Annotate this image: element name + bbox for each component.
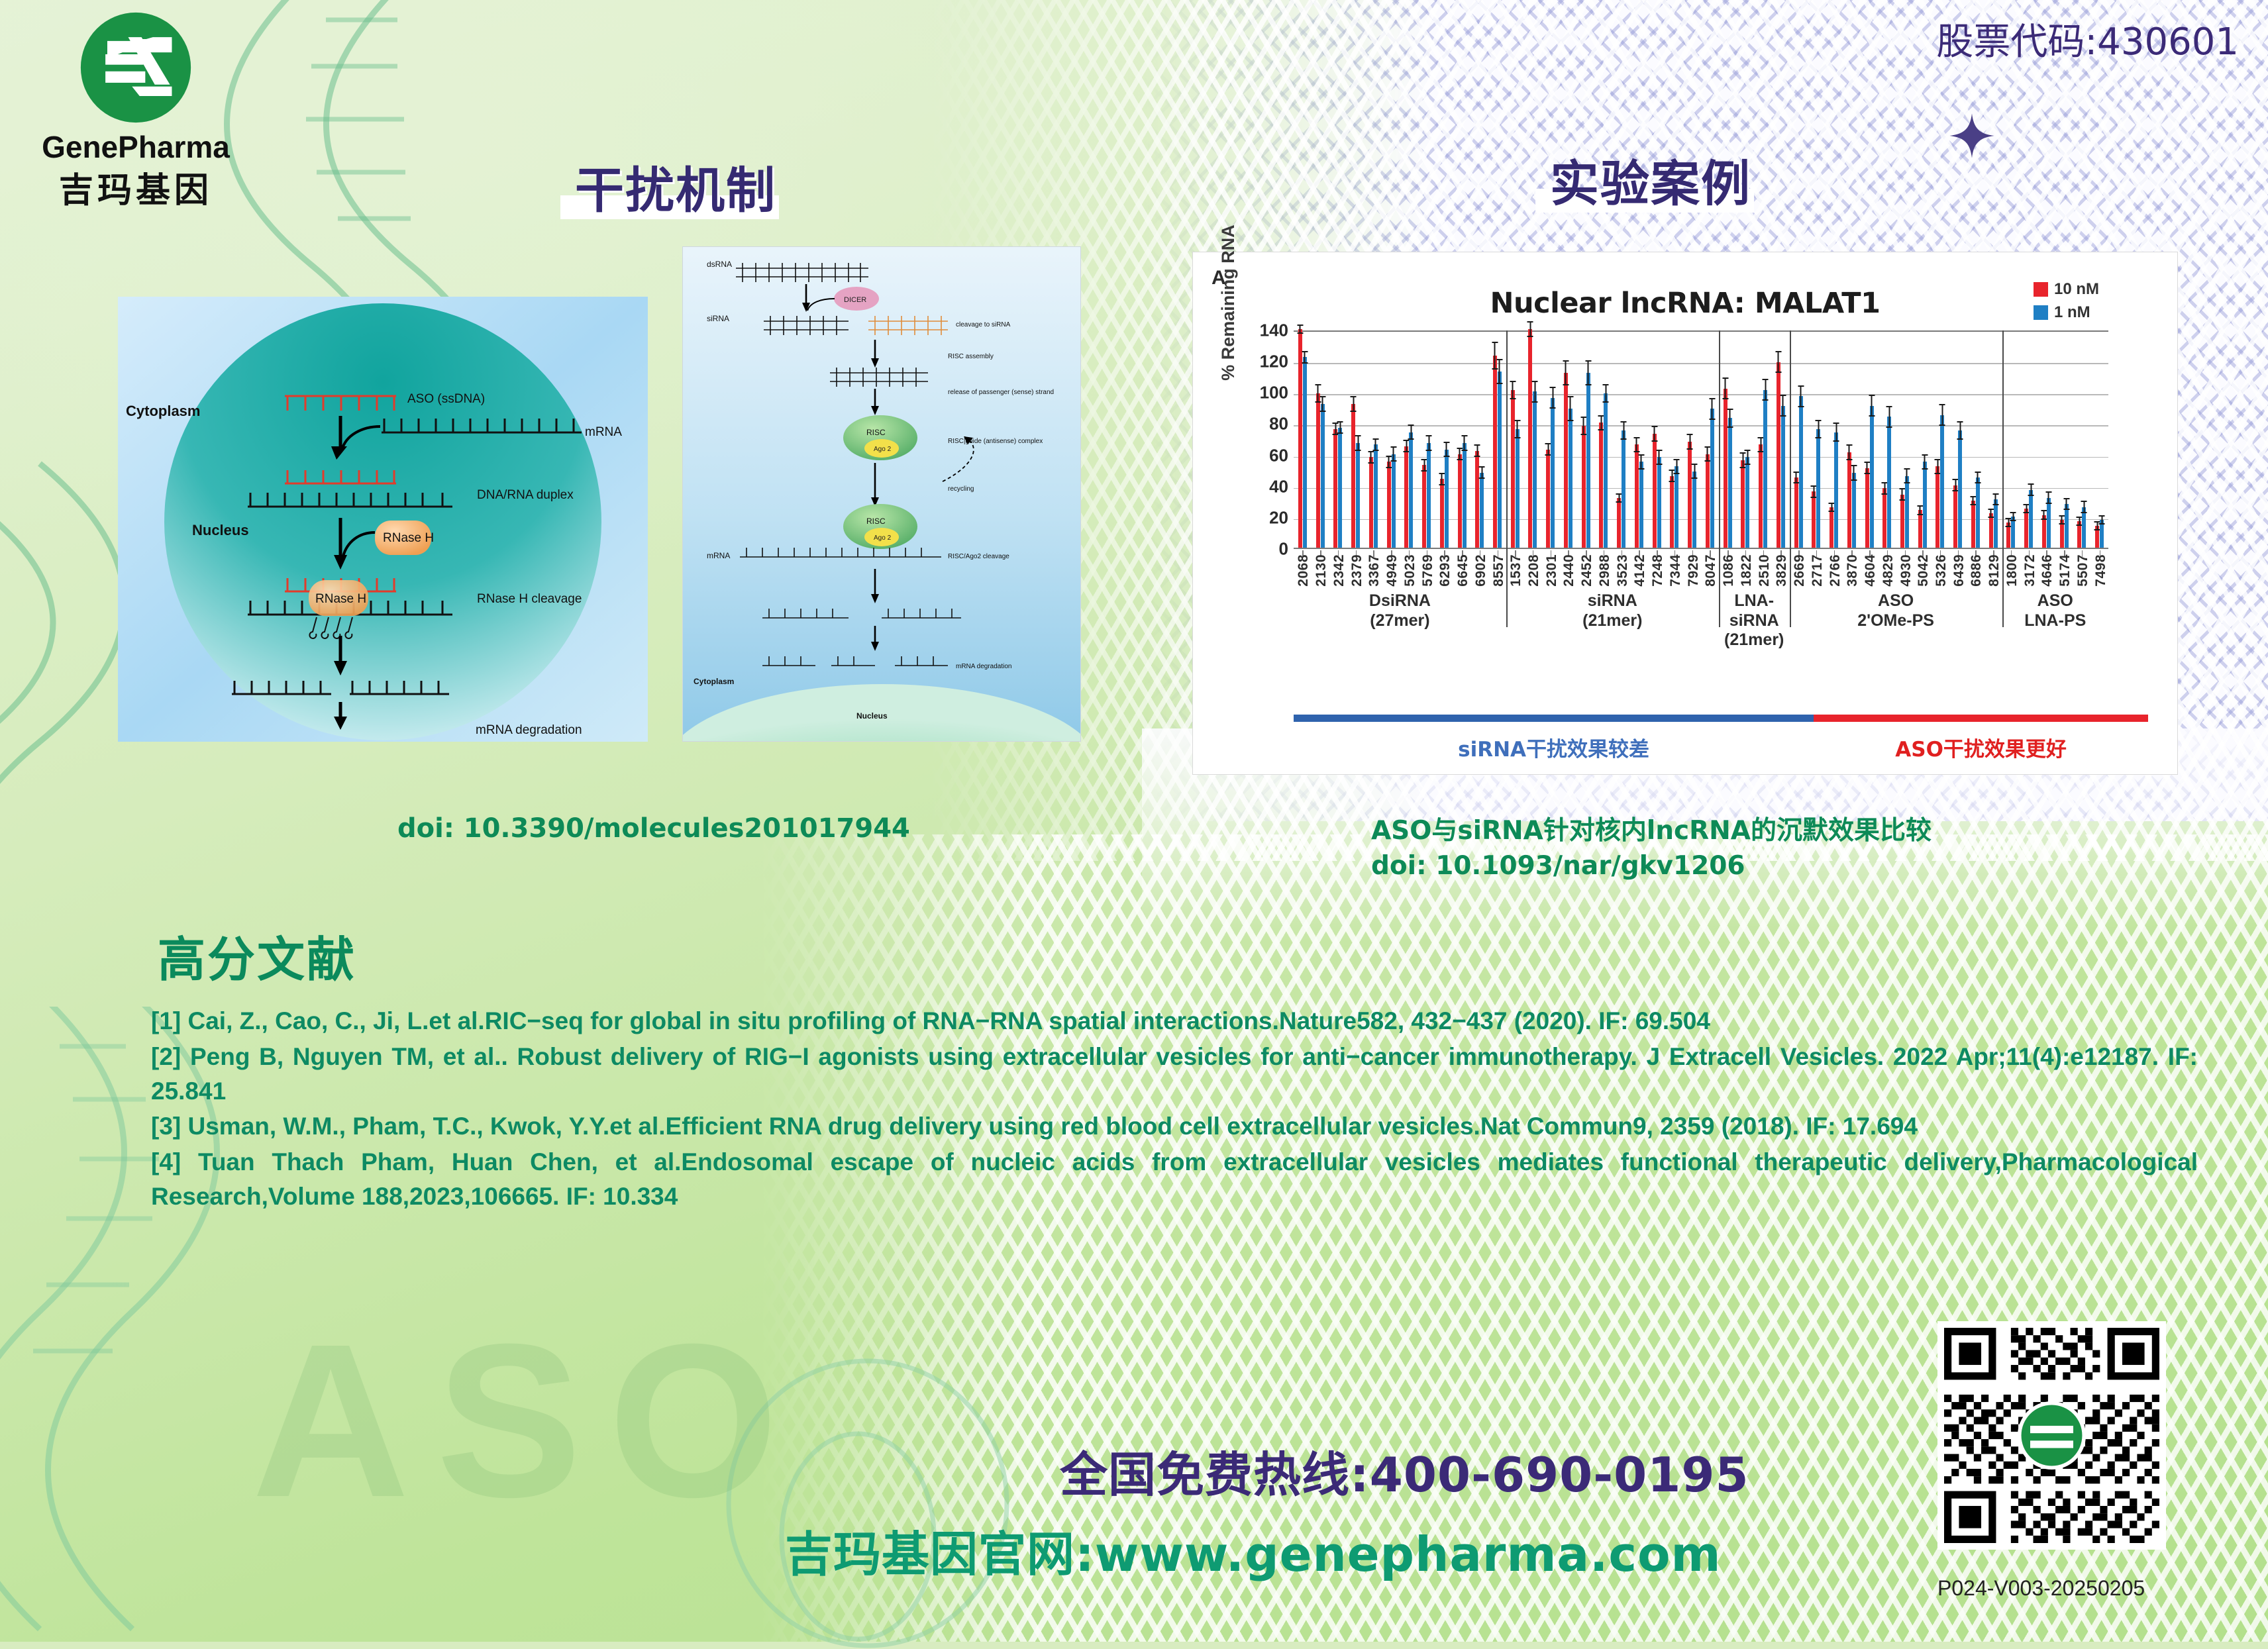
chart-bar: [2006, 523, 2010, 548]
chart-bar: [1918, 510, 1922, 548]
x-axis-label: 2342: [1331, 554, 1347, 587]
x-axis-label: 5326: [1933, 554, 1949, 587]
x-axis-label: 1800: [2004, 554, 2020, 587]
chart-bar: [1830, 507, 1833, 548]
error-bar: [1337, 421, 1343, 434]
chart-bar: [2082, 507, 2086, 548]
error-bar: [2010, 512, 2016, 521]
bar-group: [1470, 451, 1488, 548]
error-bar: [1514, 420, 1520, 438]
x-axis-label: 2208: [1526, 554, 1542, 587]
error-bar: [1585, 360, 1591, 385]
error-bar: [1687, 434, 1693, 450]
error-bar: [1390, 446, 1396, 462]
legend-item: 1 nM: [2034, 303, 2099, 322]
bar-group: [1506, 390, 1524, 548]
chart-bar: [1369, 457, 1373, 548]
bar-group: [1932, 415, 1949, 548]
chart-bar: [1338, 428, 1342, 548]
chart-y-ticks: 020406080100120140: [1241, 330, 1288, 549]
error-bar: [1904, 468, 1910, 484]
legend-label-1nm: 1 nM: [2054, 303, 2090, 322]
chart-x-labels: 2068213023422379336749495023576962936645…: [1294, 550, 2108, 628]
chart-bar: [1994, 499, 1998, 548]
chart-bar: [1582, 426, 1586, 548]
gene-pharma-logo-icon: [79, 11, 193, 125]
error-bar: [1461, 435, 1467, 451]
chart-bar: [1794, 477, 1798, 548]
x-axis-label: 2068: [1296, 554, 1312, 587]
error-bar: [1651, 426, 1657, 442]
bar-group: [1400, 432, 1417, 548]
x-axis-label: 2452: [1579, 554, 1595, 587]
x-axis-label: 4949: [1384, 554, 1400, 587]
error-bar: [1833, 423, 1839, 441]
group-label: ASOLNA-PS: [2002, 591, 2108, 630]
label-degradation: mRNA degradation: [476, 723, 582, 737]
chart-bar: [1617, 498, 1621, 548]
chart-gridline: [1294, 394, 2108, 395]
chart-legend: 10 nM 1 nM: [2034, 280, 2099, 326]
chart-bar: [1759, 444, 1763, 548]
bar-group: [1524, 329, 1542, 548]
chart-bar: [1422, 465, 1426, 548]
error-bar: [1922, 454, 1928, 470]
group-divider: [1790, 330, 1792, 552]
chart-bar: [1569, 409, 1572, 548]
group-label: DsiRNA(27mer): [1294, 591, 1506, 630]
section-title-mechanism: 干扰机制: [575, 151, 776, 222]
chart-bar: [1887, 417, 1891, 548]
chart-bar: [1511, 390, 1515, 548]
chart-bar: [1427, 443, 1431, 548]
group-label-line: siRNA: [1506, 591, 1719, 611]
y-axis-tick: 0: [1279, 539, 1288, 560]
error-bar: [1443, 442, 1449, 458]
chart-bar: [2060, 520, 2064, 548]
chart-bar: [1546, 450, 1550, 548]
error-bar: [1638, 454, 1644, 470]
chart-bar: [1692, 472, 1696, 548]
figure-sirna-mechanism: dsRNA DICER siRNA cleavage to siRNA RISC…: [682, 246, 1081, 742]
x-axis-label: 8047: [1703, 554, 1719, 587]
x-axis-label: 3367: [1366, 554, 1382, 587]
group-label: ASO2'OMe-PS: [1790, 591, 2002, 630]
label-rnaseh: RNase H: [383, 531, 434, 545]
error-bar: [1297, 325, 1303, 334]
bar-group: [1365, 444, 1382, 548]
annotation-label-sirna: siRNA干扰效果较差: [1294, 732, 1814, 762]
section-title-case: 实验案例: [1550, 144, 1751, 215]
error-bar: [1692, 464, 1698, 479]
qr-code-icon: [1944, 1328, 2159, 1543]
chart-bar: [1528, 329, 1532, 548]
x-axis-label: 2766: [1828, 554, 1843, 587]
bar-group: [1967, 477, 1984, 548]
bar-group: [1896, 476, 1914, 548]
chart-bar: [1865, 468, 1869, 548]
bar-group: [1825, 432, 1843, 548]
group-label-line: siRNA: [1719, 611, 1790, 631]
references-list: [1] Cai, Z., Cao, C., Ji, L.et al.RIC−se…: [151, 1004, 2198, 1215]
x-axis-label: 2440: [1561, 554, 1577, 587]
label-dicer: DICER: [844, 296, 866, 304]
chart-bar: [2077, 521, 2081, 548]
group-divider: [1719, 330, 1721, 552]
x-axis-label: 5769: [1420, 554, 1436, 587]
group-label-line: 2'OMe-PS: [1790, 611, 2002, 631]
chart-bar: [1905, 476, 1909, 548]
chart-bar: [1799, 396, 1803, 548]
x-axis-label: 4829: [1881, 554, 1896, 587]
chart-bar: [1356, 443, 1360, 548]
chart-bar: [2065, 504, 2069, 548]
x-axis-label: 7344: [1668, 554, 1684, 587]
chart-bar: [1387, 462, 1391, 548]
chart-bar: [1834, 432, 1838, 548]
x-axis-label: 3829: [1774, 554, 1790, 587]
brand-name-en: GenePharma: [26, 129, 245, 165]
chart-bar: [2047, 498, 2051, 548]
error-bar: [1727, 409, 1733, 427]
error-bar: [1656, 450, 1662, 466]
x-axis-label: 5174: [2057, 554, 2073, 587]
error-bar: [1532, 381, 1538, 403]
x-axis-label: 6902: [1473, 554, 1489, 587]
label-duplex: DNA/RNA duplex: [477, 488, 574, 502]
chart-bar: [1622, 430, 1625, 548]
reference-item: [4] Tuan Thach Pham, Huan Chen, et al.En…: [151, 1145, 2198, 1214]
bar-group: [1417, 443, 1435, 548]
x-axis-label: 2669: [1792, 554, 1808, 587]
error-bar: [1722, 377, 1728, 399]
reference-item: [2] Peng B, Nguyen TM, et al.. Robust de…: [151, 1040, 2198, 1109]
error-bar: [1775, 351, 1781, 373]
x-axis-label: 8129: [1986, 554, 2002, 587]
label-ago2: Ago 2: [874, 446, 892, 453]
label-nucleus-b: Nucleus: [856, 711, 888, 721]
error-bar: [1474, 444, 1480, 457]
caption-right-line2: doi: 10.1093/nar/gkv1206: [1371, 848, 1932, 883]
bar-group: [2002, 517, 2020, 548]
chart-bar: [1303, 357, 1307, 548]
bar-group: [1382, 454, 1400, 548]
error-bar: [1563, 360, 1569, 385]
chart-bar: [1745, 457, 1749, 548]
x-axis-label: 3523: [1615, 554, 1631, 587]
bar-group: [1878, 417, 1896, 548]
chart-bars: [1294, 330, 2108, 549]
chart-bar: [1392, 454, 1396, 548]
label-cytoplasm: Cytoplasm: [126, 403, 200, 419]
bar-group: [1577, 373, 1595, 548]
error-bar: [1851, 465, 1857, 481]
chart-bar: [1777, 362, 1780, 548]
bar-group: [2073, 507, 2091, 548]
bar-group: [1559, 373, 1577, 548]
error-bar: [1567, 396, 1573, 421]
label-risc: RISC: [866, 428, 886, 437]
qr-code[interactable]: [1937, 1321, 2166, 1550]
chart-bar: [2100, 520, 2104, 548]
chart-bar: [1551, 398, 1555, 548]
caption-right-line1: ASO与siRNA针对核内lncRNA的沉默效果比较: [1371, 813, 1932, 848]
y-axis-tick: 60: [1269, 445, 1288, 466]
bar-group: [1772, 362, 1790, 548]
chart-bar: [1763, 390, 1767, 548]
group-divider: [1506, 330, 1508, 552]
error-bar: [1426, 435, 1432, 451]
y-axis-tick: 120: [1260, 352, 1288, 372]
legend-label-10nm: 10 nM: [2054, 280, 2099, 299]
x-axis-label: 4604: [1863, 554, 1879, 587]
chart-card: A Nuclear lncRNA: MALAT1 10 nM 1 nM % Re…: [1192, 252, 2178, 775]
bar-group: [1984, 499, 2002, 548]
bar-group: [1861, 406, 1879, 548]
x-axis-label: 7498: [2093, 554, 2109, 587]
bar-group: [1329, 428, 1347, 548]
chart-bar: [1728, 418, 1732, 548]
annotation-bars: [1294, 715, 2148, 722]
chart-bar: [2029, 490, 2033, 548]
bar-group: [1488, 356, 1506, 548]
chart-bar: [1882, 488, 1886, 548]
footer-hotline: 全国免费热线:400-690-0195: [1060, 1436, 1749, 1505]
chart-bar: [1706, 454, 1710, 548]
error-bar: [1763, 379, 1769, 401]
chart-bar: [1935, 466, 1939, 548]
x-axis-label: 6886: [1969, 554, 1984, 587]
group-label-line: (21mer): [1719, 630, 1790, 650]
group-label: LNA-siRNA(21mer): [1719, 591, 1790, 650]
chart-bar: [2024, 509, 2028, 548]
chart-bar: [1976, 477, 1980, 548]
label-mrna-b: mRNA: [707, 551, 730, 560]
error-bar: [1798, 385, 1804, 407]
x-axis-label: 6645: [1455, 554, 1471, 587]
chart-bar: [1516, 429, 1520, 548]
x-axis-label: 1086: [1721, 554, 1737, 587]
label-guide-complex: RISC|guide (antisense) complex: [948, 438, 1043, 445]
bar-group: [1435, 450, 1453, 548]
label-release-passenger: release of passenger (sense) strand: [948, 389, 1054, 396]
annotation-bar-blue: [1294, 715, 1814, 722]
label-cleavage: RNase H cleavage: [477, 592, 582, 606]
y-axis-tick: 140: [1260, 321, 1288, 341]
group-label: siRNA(21mer): [1506, 591, 1719, 630]
bar-group: [1612, 430, 1630, 548]
x-axis-label: 5042: [1916, 554, 1932, 587]
bar-group: [1736, 457, 1754, 548]
chart-bar: [1639, 462, 1643, 548]
error-bar: [1372, 438, 1378, 451]
chart-plot-area: % Remaining RNA 020406080100120140 20682…: [1222, 330, 2149, 675]
label-cleavage-to-sirna: cleavage to siRNA: [956, 321, 1011, 328]
chart-bar: [1971, 501, 1975, 548]
bar-group: [1683, 442, 1701, 548]
error-bar: [1527, 321, 1533, 337]
chart-bar: [1480, 473, 1484, 548]
annotation-label-aso: ASO干扰效果更好: [1814, 732, 2148, 762]
label-nucleus: Nucleus: [192, 522, 249, 538]
bar-group: [1648, 434, 1666, 548]
bar-group: [1701, 409, 1719, 548]
error-bar: [1816, 420, 1822, 438]
annotation-labels: siRNA干扰效果较差 ASO干扰效果更好: [1294, 732, 2148, 762]
x-axis-label: 6293: [1437, 554, 1453, 587]
error-bar: [2081, 501, 2087, 513]
chart-bar: [1463, 443, 1467, 548]
error-bar: [1780, 395, 1786, 417]
label-ago2-2: Ago 2: [874, 534, 892, 542]
error-bar: [1992, 493, 1998, 506]
group-label-line: ASO: [2002, 591, 2108, 611]
chart-bar: [1940, 415, 1944, 548]
bar-group: [2020, 490, 2037, 548]
chart-bar: [1586, 373, 1590, 548]
chart-bar: [1409, 432, 1413, 548]
error-bar: [1302, 351, 1308, 364]
error-bar: [1408, 425, 1414, 440]
error-bar: [1846, 444, 1852, 460]
bar-group: [1843, 452, 1861, 548]
x-axis-label: 7248: [1650, 554, 1666, 587]
label-aso: ASO (ssDNA): [407, 392, 485, 406]
error-bar: [1886, 406, 1892, 428]
chart-bar: [1710, 409, 1714, 548]
bar-group: [2037, 498, 2055, 548]
label-dsrna: dsRNA: [707, 260, 732, 269]
legend-item: 10 nM: [2034, 280, 2099, 299]
label-sirna: siRNA: [707, 314, 729, 323]
chart-annotation: siRNA干扰效果较差 ASO干扰效果更好: [1294, 715, 2148, 762]
error-bar: [1975, 472, 1981, 484]
chart-bar: [2011, 517, 2015, 548]
bar-group: [1347, 404, 1365, 548]
chart-bar: [1440, 479, 1444, 548]
x-axis-label: 6439: [1951, 554, 1967, 587]
chart-gridline: [1294, 363, 2108, 364]
x-axis-label: 4142: [1632, 554, 1648, 587]
x-axis-label: 1537: [1508, 554, 1524, 587]
chart-bar: [1316, 393, 1320, 548]
annotation-bar-red: [1814, 715, 2148, 722]
label-risc-assembly: RISC assembly: [948, 353, 994, 360]
y-axis-tick: 40: [1269, 476, 1288, 497]
x-axis-label: 3870: [1845, 554, 1861, 587]
error-bar: [1355, 435, 1361, 451]
chart-title: Nuclear lncRNA: MALAT1: [1193, 287, 2177, 320]
chart-bar: [1533, 391, 1537, 548]
error-bar: [1633, 437, 1639, 453]
chart-bar: [1351, 404, 1355, 548]
bar-group: [1541, 398, 1559, 548]
x-axis-label: 2988: [1597, 554, 1613, 587]
x-axis-label: 1822: [1739, 554, 1755, 587]
y-axis-tick: 80: [1269, 414, 1288, 434]
error-bar: [1709, 398, 1715, 420]
error-bar: [1479, 466, 1485, 479]
bar-group: [2055, 504, 2073, 548]
reference-item: [1] Cai, Z., Cao, C., Ji, L.et al.RIC−se…: [151, 1004, 2198, 1038]
chart-bar: [1670, 476, 1674, 548]
error-bar: [1550, 387, 1556, 409]
x-axis-label: 5507: [2075, 554, 2091, 587]
error-bar: [1869, 395, 1875, 417]
chart-bar: [1475, 451, 1479, 548]
bar-group: [1453, 443, 1471, 548]
chart-bar: [2095, 526, 2099, 548]
error-bar: [2063, 498, 2069, 511]
chart-bar: [1741, 460, 1745, 548]
error-bar: [1603, 384, 1609, 403]
chart-bar: [1989, 513, 1993, 548]
bar-group: [1914, 462, 1932, 548]
error-bar: [1621, 421, 1627, 440]
brand-name-cn: 吉玛基因: [26, 162, 245, 212]
chart-bar: [1374, 444, 1378, 548]
label-recycling: recycling: [948, 485, 974, 493]
chart-bar: [1333, 429, 1337, 548]
x-axis-label: 5023: [1402, 554, 1418, 587]
section-title-case-text: 实验案例: [1550, 144, 1751, 215]
bar-group: [1630, 444, 1648, 548]
chart-bar: [1498, 372, 1502, 548]
error-bar: [2028, 483, 2034, 496]
sparkle-icon: [1949, 113, 1995, 159]
chart-bar: [1657, 457, 1661, 548]
label-mrna: mRNA: [585, 425, 622, 439]
bar-group: [1754, 390, 1772, 548]
chart-bar: [1404, 446, 1408, 548]
error-bar: [2099, 515, 2105, 525]
x-axis-label: 2301: [1544, 554, 1560, 587]
x-axis-label: 4930: [1898, 554, 1914, 587]
chart-y-axis-label: % Remaining RNA: [1218, 223, 1239, 382]
chart-bar: [1870, 406, 1874, 548]
footer-website[interactable]: 吉玛基因官网:www.genepharma.com: [785, 1515, 1722, 1585]
x-axis-label: 2510: [1757, 554, 1773, 587]
error-bar: [1510, 381, 1516, 399]
error-bar: [1745, 450, 1751, 466]
caption-left-figure: doi: 10.3390/molecules201017944: [397, 813, 910, 844]
bar-group: [1595, 393, 1613, 548]
bar-group: [1294, 329, 1312, 548]
bar-group: [1807, 429, 1825, 548]
chart-bar: [1958, 430, 1962, 548]
error-bar: [2045, 491, 2051, 504]
chart-bar: [1493, 356, 1497, 548]
caption-right-figure: ASO与siRNA针对核内lncRNA的沉默效果比较 doi: 10.1093/…: [1371, 813, 1932, 883]
chart-bar: [1458, 454, 1462, 548]
x-axis-label: 3172: [2022, 554, 2038, 587]
bar-group: [1312, 393, 1329, 548]
group-divider: [2002, 330, 2004, 552]
document-code: P024-V003-20250205: [1937, 1576, 2145, 1601]
error-bar: [1351, 396, 1357, 412]
x-axis-label: 7929: [1686, 554, 1702, 587]
chart-bar: [1781, 406, 1785, 548]
error-bar: [1674, 459, 1680, 475]
group-label-line: LNA-PS: [2002, 611, 2108, 631]
bar-group: [2090, 520, 2108, 548]
chart-bar: [2042, 515, 2046, 548]
section-title-mechanism-text: 干扰机制: [575, 151, 776, 222]
chart-bar: [1675, 466, 1678, 548]
group-label-line: DsiRNA: [1294, 591, 1506, 611]
chart-bar: [1321, 404, 1325, 548]
label-risc-ago2-cleavage: RISC/Ago2 cleavage: [948, 553, 1009, 560]
